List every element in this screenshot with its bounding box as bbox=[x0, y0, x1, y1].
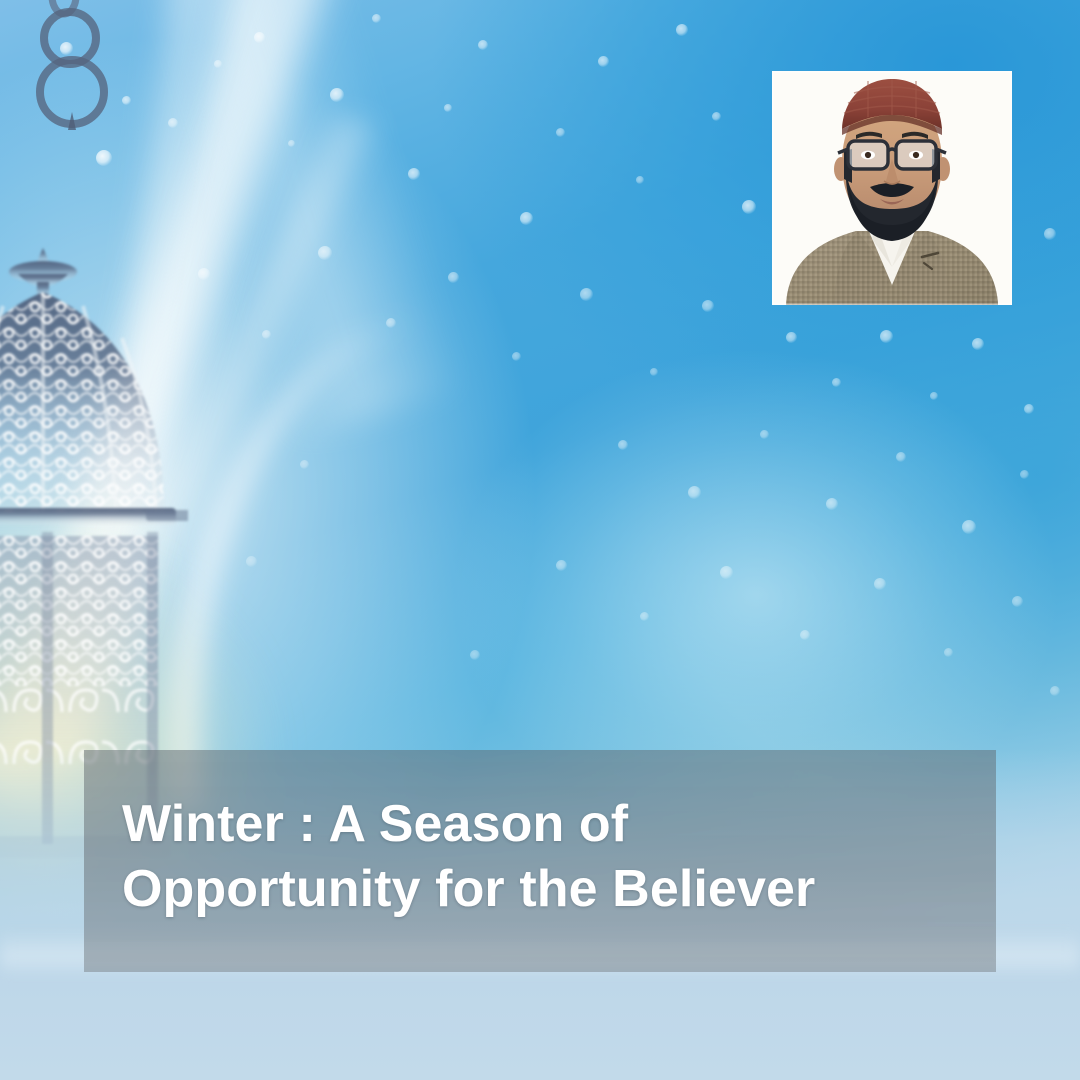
bokeh-dot bbox=[1012, 596, 1023, 607]
bokeh-dot bbox=[650, 368, 658, 376]
bokeh-dot bbox=[688, 486, 701, 499]
bokeh-dot bbox=[580, 288, 593, 301]
bokeh-dot bbox=[702, 300, 714, 312]
bokeh-dot bbox=[676, 24, 688, 36]
bokeh-dot bbox=[618, 440, 628, 450]
bokeh-dot bbox=[386, 318, 396, 328]
bokeh-dot bbox=[930, 392, 938, 400]
bokeh-dot bbox=[478, 40, 488, 50]
bokeh-dot bbox=[712, 112, 721, 121]
bokeh-dot bbox=[214, 60, 222, 68]
bokeh-dot bbox=[640, 612, 649, 621]
bokeh-dot bbox=[944, 648, 953, 657]
bokeh-dot bbox=[372, 14, 381, 23]
bokeh-dot bbox=[1050, 686, 1060, 696]
bokeh-dot bbox=[198, 268, 210, 280]
bokeh-dot bbox=[330, 88, 344, 102]
poster-canvas: Winter : A Season of Opportunity for the… bbox=[0, 0, 1080, 1080]
bokeh-dot bbox=[1024, 404, 1034, 414]
bokeh-dot bbox=[254, 32, 265, 43]
bokeh-dot bbox=[444, 104, 452, 112]
bokeh-dot bbox=[556, 128, 565, 137]
bokeh-dot bbox=[448, 272, 459, 283]
page-title: Winter : A Season of Opportunity for the… bbox=[122, 792, 962, 922]
bokeh-dot bbox=[720, 566, 733, 579]
bokeh-dot bbox=[874, 578, 886, 590]
bokeh-dot bbox=[972, 338, 984, 350]
bokeh-dot bbox=[1044, 228, 1056, 240]
bokeh-dot bbox=[470, 650, 480, 660]
bokeh-dot bbox=[636, 176, 644, 184]
bokeh-dot bbox=[288, 140, 295, 147]
bokeh-dot bbox=[896, 452, 906, 462]
bokeh-dot bbox=[742, 200, 756, 214]
lantern-chain-icon bbox=[0, 0, 152, 220]
bokeh-dot bbox=[800, 630, 810, 640]
bokeh-dot bbox=[880, 330, 893, 343]
bokeh-dot bbox=[832, 378, 841, 387]
bokeh-dot bbox=[962, 520, 976, 534]
bokeh-dot bbox=[598, 56, 609, 67]
bokeh-dot bbox=[318, 246, 332, 260]
bokeh-dot bbox=[300, 460, 309, 469]
speaker-portrait bbox=[772, 71, 1012, 305]
bokeh-dot bbox=[512, 352, 521, 361]
bokeh-dot bbox=[826, 498, 838, 510]
bokeh-dot bbox=[1020, 470, 1029, 479]
bokeh-dot bbox=[556, 560, 567, 571]
lantern-finial bbox=[9, 248, 77, 298]
bokeh-dot bbox=[168, 118, 178, 128]
bokeh-dot bbox=[760, 430, 769, 439]
lantern-rim-lip bbox=[146, 510, 188, 521]
bokeh-dot bbox=[408, 168, 420, 180]
title-banner: Winter : A Season of Opportunity for the… bbox=[84, 750, 996, 972]
bokeh-dot bbox=[262, 330, 271, 339]
bokeh-dot bbox=[520, 212, 533, 225]
bokeh-dot bbox=[786, 332, 797, 343]
